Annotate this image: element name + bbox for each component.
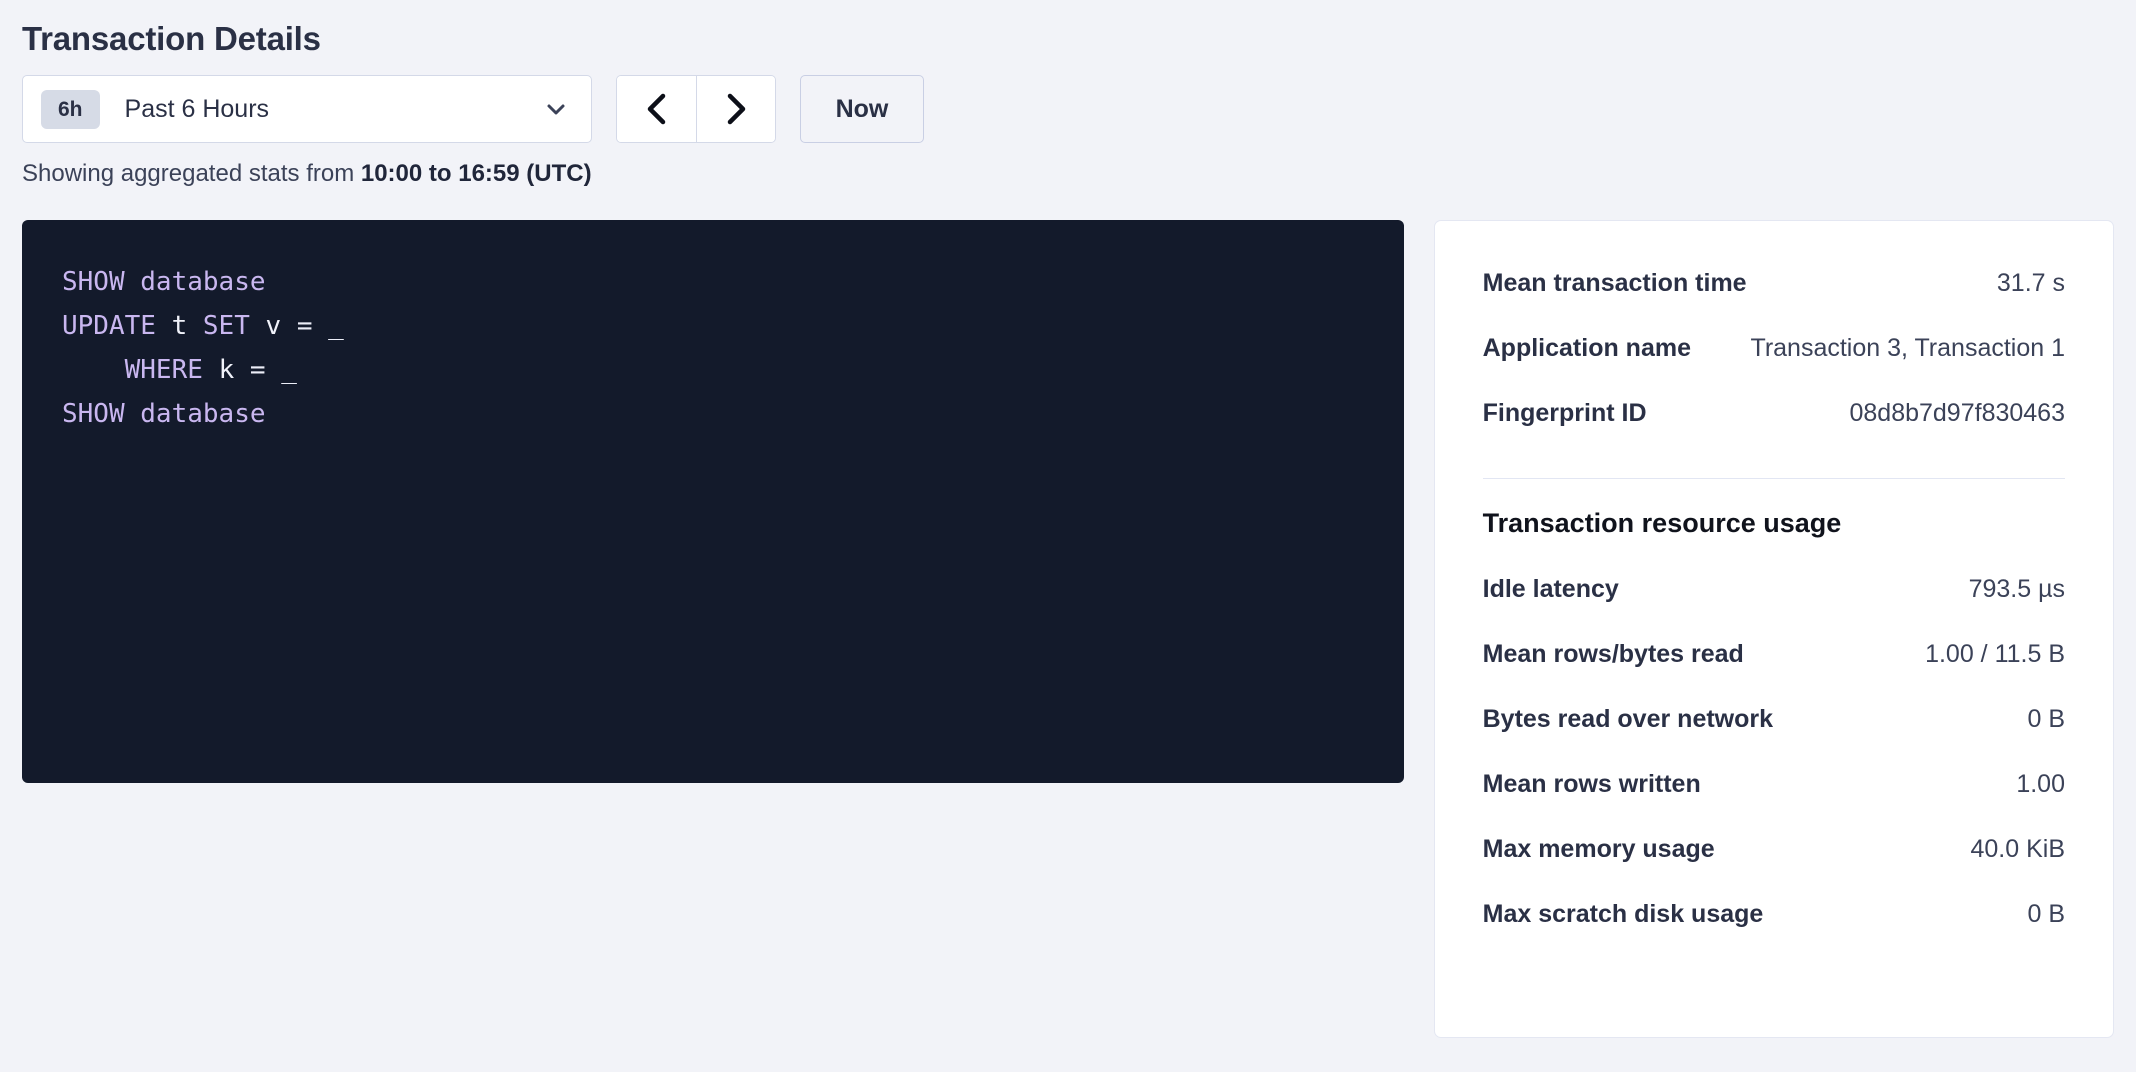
- chevron-left-icon: [642, 92, 672, 126]
- resource-usage-heading: Transaction resource usage: [1483, 503, 2065, 543]
- stat-value: 0 B: [2027, 900, 2065, 929]
- transaction-details-page: Transaction Details 6h Past 6 Hours: [0, 0, 2136, 1072]
- code-token: [312, 311, 328, 341]
- time-nav-group: [616, 75, 776, 143]
- stat-label: Max scratch disk usage: [1483, 900, 1764, 929]
- code-line: SHOW database: [62, 260, 1404, 304]
- aggregation-note-range: 10:00 to 16:59 (UTC): [361, 160, 592, 187]
- time-range-label: Past 6 Hours: [125, 95, 545, 124]
- code-token: [281, 311, 297, 341]
- stat-label: Idle latency: [1483, 575, 1619, 604]
- code-line: SHOW database: [62, 392, 1404, 436]
- stat-label: Mean transaction time: [1483, 269, 1747, 298]
- next-period-button[interactable]: [696, 76, 775, 142]
- stat-label: Fingerprint ID: [1483, 399, 1647, 428]
- stat-value: Transaction 3, Transaction 1: [1750, 334, 2065, 363]
- sql-code-block[interactable]: SHOW databaseUPDATE t SET v = _ WHERE k …: [22, 220, 1404, 783]
- code-token: [203, 355, 219, 385]
- stats-divider: [1483, 478, 2065, 479]
- stat-value: 1.00: [2016, 770, 2065, 799]
- code-token: [156, 311, 172, 341]
- code-token: WHERE: [125, 355, 203, 385]
- stat-value: 0 B: [2027, 705, 2065, 734]
- previous-period-button[interactable]: [617, 76, 696, 142]
- code-token: [266, 355, 282, 385]
- resource-stat-row: Max memory usage40.0 KiB: [1483, 817, 2065, 882]
- code-token: SHOW: [62, 267, 125, 297]
- code-token: v: [266, 311, 282, 341]
- summary-stats-list: Mean transaction time31.7 sApplication n…: [1483, 251, 2065, 446]
- code-token: SHOW: [62, 399, 125, 429]
- summary-stat-row: Application nameTransaction 3, Transacti…: [1483, 316, 2065, 381]
- code-token: k: [219, 355, 235, 385]
- code-token: [125, 267, 141, 297]
- page-title: Transaction Details: [22, 0, 2114, 62]
- code-token: _: [281, 355, 297, 385]
- stat-label: Mean rows/bytes read: [1483, 640, 1744, 669]
- stat-value: 40.0 KiB: [1970, 835, 2065, 864]
- stat-label: Application name: [1483, 334, 1691, 363]
- code-token: [62, 355, 125, 385]
- time-range-badge: 6h: [41, 90, 100, 129]
- code-line: WHERE k = _: [62, 348, 1404, 392]
- summary-stat-row: Fingerprint ID08d8b7d97f830463: [1483, 381, 2065, 446]
- code-line: UPDATE t SET v = _: [62, 304, 1404, 348]
- stat-value: 08d8b7d97f830463: [1849, 399, 2065, 428]
- resource-stats-list: Idle latency793.5 µsMean rows/bytes read…: [1483, 557, 2065, 947]
- aggregation-note: Showing aggregated stats from 10:00 to 1…: [22, 159, 2114, 189]
- stat-value: 793.5 µs: [1969, 575, 2065, 604]
- resource-stat-row: Idle latency793.5 µs: [1483, 557, 2065, 622]
- now-button[interactable]: Now: [800, 75, 924, 143]
- summary-stat-row: Mean transaction time31.7 s: [1483, 251, 2065, 316]
- stat-value: 1.00 / 11.5 B: [1925, 640, 2065, 669]
- code-token: [187, 311, 203, 341]
- resource-stat-row: Max scratch disk usage0 B: [1483, 882, 2065, 947]
- stat-label: Mean rows written: [1483, 770, 1701, 799]
- stat-value: 31.7 s: [1997, 269, 2065, 298]
- code-token: UPDATE: [62, 311, 156, 341]
- chevron-right-icon: [721, 92, 751, 126]
- code-token: [250, 311, 266, 341]
- code-token: [234, 355, 250, 385]
- stat-label: Bytes read over network: [1483, 705, 1773, 734]
- code-token: database: [140, 399, 265, 429]
- code-token: =: [250, 355, 266, 385]
- code-token: _: [328, 311, 344, 341]
- code-token: t: [172, 311, 188, 341]
- transaction-stats-card: Mean transaction time31.7 sApplication n…: [1434, 220, 2114, 1038]
- code-token: SET: [203, 311, 250, 341]
- stat-label: Max memory usage: [1483, 835, 1715, 864]
- time-range-toolbar: 6h Past 6 Hours: [22, 75, 2114, 143]
- aggregation-note-prefix: Showing aggregated stats from: [22, 160, 361, 187]
- resource-stat-row: Mean rows written1.00: [1483, 752, 2065, 817]
- time-range-select[interactable]: 6h Past 6 Hours: [22, 75, 592, 143]
- code-token: =: [297, 311, 313, 341]
- code-token: [125, 399, 141, 429]
- resource-stat-row: Bytes read over network0 B: [1483, 687, 2065, 752]
- resource-stat-row: Mean rows/bytes read1.00 / 11.5 B: [1483, 622, 2065, 687]
- code-token: database: [140, 267, 265, 297]
- chevron-down-icon: [545, 98, 567, 120]
- details-content: SHOW databaseUPDATE t SET v = _ WHERE k …: [22, 220, 2114, 1038]
